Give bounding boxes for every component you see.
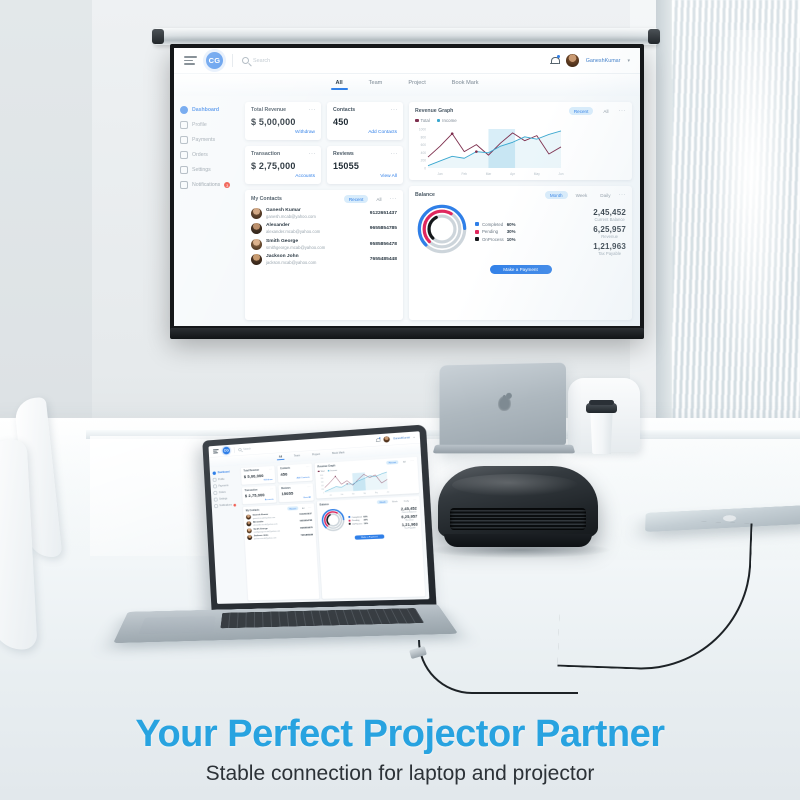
sidebar-item-dashboard[interactable]: Dashboard — [212, 470, 237, 475]
more-options-icon[interactable]: ··· — [306, 466, 310, 469]
balance-segment-pct: 30% — [363, 518, 367, 520]
contact-email: smithgeorge.mcab@yahoo.com — [253, 529, 280, 532]
contact-email: jackson.mcab@yahoo.com — [254, 537, 277, 540]
sidebar-item-notifications[interactable]: Notifications 3 — [214, 503, 239, 508]
stat-title: Reviews — [333, 151, 397, 157]
revenue-line-chart: 02004006008001000JanFebMarAprMayJun — [415, 125, 626, 182]
contact-row[interactable]: Jackson John jackson.mcab@yahoo.com 7655… — [251, 254, 397, 265]
chart-legend: TotalIncome — [415, 118, 626, 123]
more-options-icon[interactable]: ··· — [390, 196, 398, 202]
svg-text:0: 0 — [323, 492, 324, 494]
office-scene: CG Search GaneshKumar ▾ AllTeamProjectBo… — [0, 0, 800, 800]
sidebar-item-profile[interactable]: Profile — [180, 121, 238, 129]
search-placeholder: Search — [253, 58, 270, 64]
balance-figure: 6,25,957 Revenue — [401, 514, 417, 521]
header-divider — [234, 447, 235, 453]
balance-legend-item: Completed 60% — [475, 222, 516, 227]
open-laptop: CG Search GaneshKumar ▾ AllTeamProjectBo… — [130, 440, 450, 670]
sidebar-item-label: Orders — [219, 491, 226, 494]
more-options-icon[interactable]: ··· — [309, 151, 317, 157]
apple-logo-icon — [498, 395, 511, 410]
sidebar-item-payments[interactable]: Payments — [180, 136, 238, 144]
roller-cap-left — [152, 29, 164, 44]
sidebar-badge: 3 — [234, 504, 237, 507]
contact-phone: 9122651437 — [370, 211, 397, 216]
balance-legend-item: OnProcess 10% — [475, 237, 516, 242]
gear-icon — [180, 166, 188, 174]
more-options-icon[interactable]: ··· — [619, 108, 627, 114]
stat-card[interactable]: Total Revenue ··· $ 5,00,000 Withdraw — [245, 102, 321, 140]
stat-title: Total Revenue — [251, 107, 315, 113]
svg-text:200: 200 — [321, 489, 324, 491]
search-icon — [242, 57, 249, 64]
revenue-graph-title: Revenue Graph — [415, 108, 453, 114]
stat-link[interactable]: Accounts — [245, 498, 274, 502]
balance-donut-chart — [415, 202, 469, 261]
svg-text:Jun: Jun — [387, 491, 390, 493]
caption-subhead: Stable connection for laptop and project… — [0, 762, 800, 786]
header-divider — [232, 54, 233, 67]
contact-phone: 9655854785 — [300, 520, 313, 523]
balance-card: Balance MonthWeekDaily ··· Completed 60%… — [409, 186, 632, 320]
sidebar-item-label: Notifications — [219, 504, 231, 507]
contacts-filter-recent[interactable]: Recent — [344, 195, 369, 203]
menu-icon[interactable] — [213, 449, 219, 453]
contact-avatar — [251, 254, 262, 265]
svg-text:400: 400 — [321, 485, 324, 487]
tab-book-mark[interactable]: Book Mark — [332, 451, 345, 456]
stat-card[interactable]: Transaction ··· $ 2,75,000 Accounts — [245, 146, 321, 184]
left-wall-panel — [0, 0, 92, 470]
app-logo[interactable]: CG — [222, 447, 230, 455]
stat-title: Transaction — [251, 151, 315, 157]
sidebar-item-notifications[interactable]: Notifications 3 — [180, 181, 238, 189]
more-options-icon[interactable]: ··· — [309, 107, 317, 113]
balance-filter-month[interactable]: Month — [377, 500, 388, 504]
svg-text:Feb: Feb — [341, 494, 344, 496]
sidebar-item-settings[interactable]: Settings — [180, 166, 238, 174]
balance-segment-label: Pending — [482, 229, 498, 234]
balance-figure: 6,25,957 Revenue — [593, 225, 626, 239]
figure-value: 6,25,957 — [593, 225, 626, 234]
contact-avatar — [247, 528, 252, 533]
sidebar-item-payments[interactable]: Payments — [213, 483, 238, 488]
contact-phone: 9122651437 — [299, 513, 312, 516]
sidebar-item-label: Orders — [192, 152, 208, 158]
tab-team[interactable]: Team — [294, 454, 300, 459]
contact-email: jackson.mcab@yahoo.com — [266, 260, 316, 265]
contacts-title: My Contacts — [251, 196, 282, 202]
menu-icon[interactable] — [184, 56, 197, 65]
revenue-graph-card: Revenue Graph RecentAll ··· TotalIncome … — [315, 457, 419, 499]
caption-headline: Your Perfect Projector Partner — [0, 713, 800, 756]
balance-segment-label: Completed — [352, 515, 362, 518]
more-options-icon[interactable]: ··· — [391, 107, 399, 113]
sidebar-item-label: Settings — [219, 498, 227, 501]
svg-text:1000: 1000 — [419, 128, 426, 132]
contact-phone: 7655485448 — [370, 257, 397, 262]
notification-bell-icon[interactable] — [550, 56, 559, 65]
bell-icon — [214, 504, 218, 508]
balance-segment-label: Completed — [482, 222, 503, 227]
search-input[interactable]: Search — [238, 447, 251, 451]
svg-text:200: 200 — [421, 159, 427, 163]
sidebar-item-label: Payments — [192, 137, 215, 143]
cart-icon — [180, 151, 188, 159]
balance-segment-label: OnProcess — [352, 522, 362, 525]
svg-text:800: 800 — [421, 135, 427, 139]
make-a-payment-button[interactable]: Make a Payment — [490, 265, 552, 274]
graph-filter-recent[interactable]: Recent — [569, 107, 594, 115]
chevron-down-icon[interactable]: ▾ — [627, 58, 630, 64]
more-options-icon[interactable]: ··· — [391, 151, 399, 157]
contact-email: ganesh.mcab@yahoo.com — [266, 214, 316, 219]
coffee-cup — [586, 398, 617, 454]
macbook-lid — [440, 363, 566, 452]
svg-text:Apr: Apr — [364, 491, 367, 494]
contact-row[interactable]: Ganesh Kumar ganesh.mcab@yahoo.com 91226… — [251, 208, 397, 219]
contact-avatar — [251, 208, 262, 219]
balance-segment-pct: 10% — [364, 522, 368, 524]
balance-legend-item: Pending 30% — [475, 229, 516, 234]
stat-card[interactable]: Transaction ··· $ 2,75,000 Accounts — [242, 485, 277, 504]
balance-figures: 2,45,452 Current Balance 6,25,957 Revenu… — [593, 208, 626, 256]
macbook — [440, 364, 568, 448]
dashboard-header: CG Search GaneshKumar ▾ — [174, 48, 640, 74]
bell-icon — [180, 181, 188, 189]
svg-text:Apr: Apr — [510, 172, 516, 176]
more-options-icon[interactable]: ··· — [413, 499, 417, 502]
contacts-card: My Contacts RecentAll ··· Ganesh Kumar g… — [245, 190, 403, 320]
balance-card: Balance MonthWeekDaily ··· Completed 60%… — [317, 496, 425, 599]
graph-filter-all[interactable]: All — [401, 460, 409, 464]
laptop-screen[interactable]: CG Search GaneshKumar ▾ AllTeamProjectBo… — [208, 431, 429, 604]
contact-row[interactable]: Alexander alexander.mcab@yahoo.com 96558… — [251, 223, 397, 234]
balance-filter-daily[interactable]: Daily — [401, 499, 411, 503]
balance-figure: 1,21,963 Tax Payable — [593, 242, 626, 256]
card-icon — [180, 136, 188, 144]
svg-text:Jun: Jun — [558, 172, 563, 176]
coffee-cup-lid — [586, 403, 617, 413]
svg-text:600: 600 — [421, 143, 427, 147]
gear-icon — [214, 498, 218, 502]
balance-segment-pct: 10% — [507, 237, 516, 242]
avatar[interactable] — [383, 436, 390, 442]
window-daylight-glow — [708, 30, 794, 390]
stat-card[interactable]: Total Revenue ··· $ 5,00,000 Withdraw — [241, 466, 276, 485]
user-name[interactable]: GaneshKumar — [586, 58, 621, 64]
sidebar-item-profile[interactable]: Profile — [213, 477, 238, 482]
sidebar-item-label: Settings — [192, 167, 211, 173]
balance-filter-week[interactable]: Week — [571, 191, 593, 199]
balance-legend-item: OnProcess 10% — [349, 522, 368, 525]
revenue-graph-title: Revenue Graph — [317, 465, 335, 469]
dashboard-laptop[interactable]: CG Search GaneshKumar ▾ AllTeamProjectBo… — [208, 431, 429, 603]
sidebar-badge: 3 — [224, 182, 230, 188]
legend-item: Total — [415, 118, 430, 123]
contact-email: alexander.mcab@yahoo.com — [266, 229, 320, 234]
svg-text:Feb: Feb — [462, 172, 468, 176]
sidebar-item-label: Profile — [218, 478, 225, 481]
stat-link[interactable]: Add Contacts — [333, 130, 397, 135]
contacts-title: My Contacts — [246, 509, 260, 512]
search-placeholder: Search — [243, 448, 251, 451]
balance-segment-pct: 60% — [507, 222, 516, 227]
svg-text:800: 800 — [321, 478, 324, 480]
notification-bell-icon[interactable] — [376, 438, 381, 442]
svg-text:Mar: Mar — [352, 492, 355, 495]
avatar[interactable] — [566, 54, 579, 67]
card-icon — [213, 485, 217, 489]
stat-title: Reviews — [281, 486, 310, 490]
balance-filter-week[interactable]: Week — [389, 499, 400, 503]
dashboard-projected[interactable]: CG Search GaneshKumar ▾ AllTeamProjectBo… — [174, 48, 640, 326]
projected-image: CG Search GaneshKumar ▾ AllTeamProjectBo… — [174, 48, 640, 326]
laptop-lid: CG Search GaneshKumar ▾ AllTeamProjectBo… — [202, 424, 437, 618]
contact-row[interactable]: Jackson John jackson.mcab@yahoo.com 7655… — [247, 532, 313, 540]
sidebar: Dashboard Profile Payments Orders Settin… — [212, 468, 245, 601]
contact-avatar — [247, 535, 252, 540]
stat-link[interactable]: View All — [333, 174, 397, 179]
more-options-icon[interactable]: ··· — [410, 460, 414, 463]
stat-link[interactable]: Withdraw — [251, 130, 315, 135]
balance-segment-pct: 60% — [363, 515, 367, 517]
sidebar-item-settings[interactable]: Settings — [214, 496, 239, 501]
sidebar-item-label: Payments — [218, 484, 228, 487]
figure-label: Tax Payable — [593, 251, 626, 256]
legend-item: Income — [437, 118, 457, 123]
revenue-line-chart: 02004006008001000JanFebMarAprMayJun — [318, 468, 416, 500]
contact-phone: 9655854785 — [370, 226, 397, 231]
balance-figure: 2,45,452 Current Balance — [593, 208, 626, 222]
balance-segment-label: OnProcess — [482, 237, 504, 242]
coffee-cup-body — [588, 408, 615, 454]
stat-card[interactable]: Reviews ··· 15055 View All — [278, 483, 314, 502]
stat-link[interactable]: Accounts — [251, 174, 315, 179]
more-options-icon[interactable]: ··· — [308, 506, 312, 509]
projection-screen: CG Search GaneshKumar ▾ AllTeamProjectBo… — [152, 28, 660, 346]
balance-legend: Completed 60% Pending 30% OnProcess 10% — [475, 222, 516, 242]
more-options-icon[interactable]: ··· — [269, 468, 273, 471]
sidebar-item-label: Notifications — [192, 182, 220, 188]
more-options-icon[interactable]: ··· — [270, 488, 274, 491]
tab-team[interactable]: Team — [369, 80, 383, 90]
stat-link[interactable]: Add Contacts — [281, 476, 310, 480]
tab-book-mark[interactable]: Book Mark — [452, 80, 479, 90]
balance-figures: 2,45,452 Current Balance 6,25,957 Revenu… — [401, 506, 418, 529]
dashboard-icon — [180, 106, 188, 114]
contact-phone: 9585856478 — [300, 527, 313, 530]
balance-segment-label: Pending — [352, 519, 360, 522]
balance-legend: Completed 60% Pending 30% OnProcess 10% — [348, 515, 368, 525]
contact-email: smithgeorge.mcab@yahoo.com — [266, 245, 325, 250]
balance-filter-daily[interactable]: Daily — [595, 191, 615, 199]
tab-project[interactable]: Project — [408, 80, 425, 90]
balance-title: Balance — [415, 192, 435, 198]
sidebar-item-orders[interactable]: Orders — [180, 151, 238, 159]
contact-avatar — [246, 521, 251, 526]
figure-label: Tax Payable — [402, 526, 418, 529]
stat-title: Transaction — [245, 488, 274, 492]
svg-text:0: 0 — [424, 167, 426, 171]
projector-top-highlight — [452, 474, 578, 496]
figure-value: 2,45,452 — [593, 208, 626, 217]
contact-email: alexander.mcab@yahoo.com — [253, 523, 277, 526]
more-options-icon[interactable]: ··· — [619, 192, 627, 198]
more-options-icon[interactable]: ··· — [307, 486, 311, 489]
contact-avatar — [251, 223, 262, 234]
svg-text:400: 400 — [421, 151, 427, 155]
stat-link[interactable]: Withdraw — [244, 479, 273, 483]
svg-text:Jan: Jan — [330, 494, 333, 496]
sidebar-item-label: Dashboard — [218, 471, 230, 474]
svg-text:May: May — [375, 492, 378, 494]
tab-all[interactable]: All — [336, 80, 343, 90]
balance-donut-chart — [320, 507, 347, 535]
user-name[interactable]: GaneshKumar — [393, 436, 410, 440]
search-input[interactable]: Search — [242, 57, 270, 64]
graph-filter-all[interactable]: All — [598, 107, 613, 115]
stat-value: $ 2,75,000 — [251, 161, 315, 171]
sidebar: Dashboard Profile Payments Orders Settin… — [180, 102, 238, 320]
svg-text:1000: 1000 — [320, 475, 324, 477]
sidebar-item-label: Profile — [192, 122, 207, 128]
laptop-trackpad[interactable] — [138, 616, 216, 635]
sidebar-item-dashboard[interactable]: Dashboard — [180, 106, 238, 114]
contact-phone: 9585856478 — [370, 242, 397, 247]
revenue-graph-card: Revenue Graph RecentAll ··· TotalIncome … — [409, 102, 632, 180]
contact-name: Ganesh Kumar — [266, 208, 316, 213]
tab-all[interactable]: All — [279, 455, 282, 460]
figure-value: 1,21,963 — [593, 242, 626, 251]
caption: Your Perfect Projector Partner Stable co… — [0, 713, 800, 786]
sidebar-item-label: Dashboard — [192, 107, 219, 113]
stat-title: Contacts — [333, 107, 397, 113]
user-icon — [180, 121, 188, 129]
svg-text:Jan: Jan — [438, 172, 443, 176]
graph-filter-recent[interactable]: Recent — [386, 460, 398, 464]
projection-screen-roller — [154, 28, 658, 45]
contact-avatar — [246, 514, 251, 519]
figure-label: Current Balance — [401, 510, 417, 513]
contact-avatar — [251, 239, 262, 250]
contacts-filter-recent[interactable]: Recent — [287, 506, 298, 510]
balance-segment-pct: 30% — [507, 229, 516, 234]
figure-label: Revenue — [593, 234, 626, 239]
svg-text:600: 600 — [321, 482, 324, 484]
balance-title: Balance — [320, 503, 329, 506]
balance-filter-month[interactable]: Month — [545, 191, 568, 199]
laptop-base — [113, 604, 458, 643]
dashboard-icon — [212, 471, 216, 475]
figure-label: Current Balance — [593, 217, 626, 222]
stat-value: 450 — [333, 117, 397, 127]
svg-text:Mar: Mar — [486, 172, 492, 176]
roller-cap-right — [648, 29, 660, 44]
contact-phone: 7655485448 — [301, 534, 314, 537]
search-icon — [238, 448, 241, 451]
dashboard-tabs: AllTeamProjectBook Mark — [174, 74, 640, 96]
contact-email: ganesh.mcab@yahoo.com — [253, 516, 275, 519]
cart-icon — [214, 491, 218, 495]
contacts-filter-all[interactable]: All — [300, 506, 307, 510]
balance-figure: 1,21,963 Tax Payable — [402, 522, 418, 529]
contacts-filter-all[interactable]: All — [371, 195, 386, 203]
macbook-base — [433, 445, 576, 454]
app-logo[interactable]: CG — [206, 52, 223, 69]
svg-text:May: May — [534, 172, 540, 176]
laptop-keyboard[interactable] — [220, 608, 424, 628]
stat-value: $ 5,00,000 — [251, 117, 315, 127]
chevron-down-icon[interactable]: ▾ — [413, 436, 414, 439]
make-a-payment-button[interactable]: Make a Payment — [355, 534, 385, 539]
stat-card[interactable]: Contacts ··· 450 Add Contacts — [277, 463, 313, 482]
contacts-card: My Contacts RecentAll ··· Ganesh Kumar g… — [243, 503, 320, 600]
contact-row[interactable]: Smith George smithgeorge.mcab@yahoo.com … — [251, 239, 397, 250]
stat-card[interactable]: Reviews ··· 15055 View All — [327, 146, 403, 184]
tab-project[interactable]: Project — [312, 453, 320, 458]
user-icon — [213, 478, 217, 482]
contact-name: Alexander — [266, 223, 320, 228]
contact-name: Smith George — [266, 239, 325, 244]
contact-name: Jackson John — [266, 254, 316, 259]
sidebar-item-orders[interactable]: Orders — [214, 490, 239, 495]
projection-screen-bottom-bar — [170, 328, 644, 339]
balance-figure: 2,45,452 Current Balance — [401, 506, 417, 513]
stat-link[interactable]: View All — [282, 496, 311, 500]
stat-card[interactable]: Contacts ··· 450 Add Contacts — [327, 102, 403, 140]
stat-value: 15055 — [333, 161, 397, 171]
